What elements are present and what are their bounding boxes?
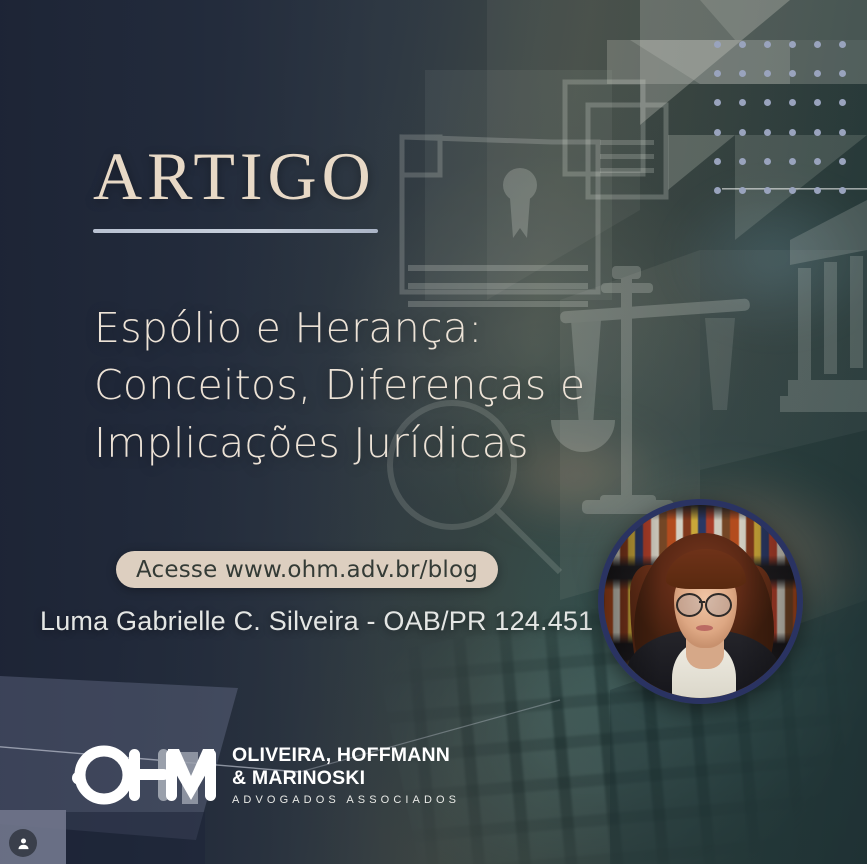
firm-wordmark: OLIVEIRA, HOFFMANN & MARINOSKI ADVOGADOS… <box>232 744 460 805</box>
eyebrow-divider <box>93 229 378 233</box>
author-credit: Luma Gabrielle C. Silveira - OAB/PR 124.… <box>40 606 593 637</box>
blog-cta-pill[interactable]: Acesse www.ohm.adv.br/blog <box>116 551 498 588</box>
eyebrow-label: ARTIGO <box>93 142 376 210</box>
headline-line-3: Implicações Jurídicas <box>94 415 694 472</box>
firm-name-line-1: OLIVEIRA, HOFFMANN <box>232 744 460 766</box>
headline-line-1: Espólio e Herança: <box>94 300 694 357</box>
ohm-monogram-icon <box>72 742 220 808</box>
firm-logo: OLIVEIRA, HOFFMANN & MARINOSKI ADVOGADOS… <box>72 742 460 808</box>
post-canvas: ARTIGO Espólio e Herança: Conceitos, Dif… <box>0 0 867 864</box>
firm-tagline: ADVOGADOS ASSOCIADOS <box>232 794 460 806</box>
dot-grid-decoration <box>705 30 855 205</box>
firm-name-line-2: & MARINOSKI <box>232 767 460 789</box>
headline-line-2: Conceitos, Diferenças e <box>94 357 694 414</box>
blog-cta-label: Acesse www.ohm.adv.br/blog <box>136 557 478 583</box>
avatar-button[interactable] <box>9 829 37 857</box>
author-portrait <box>598 499 803 704</box>
portrait-vignette <box>604 505 797 698</box>
person-icon <box>16 836 31 851</box>
headline: Espólio e Herança: Conceitos, Diferenças… <box>94 300 694 472</box>
